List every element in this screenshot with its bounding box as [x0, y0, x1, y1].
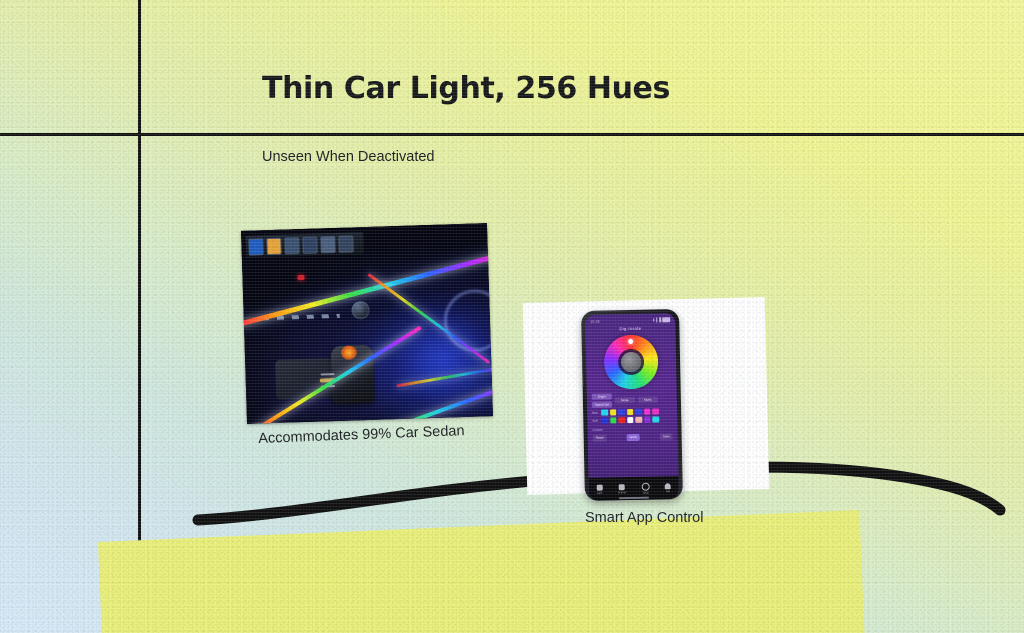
bottom-navigation-bar: Light Scenes Timer Me: [589, 476, 679, 501]
nav-item-label: Scenes: [618, 491, 627, 494]
person-icon: [665, 483, 671, 489]
color-swatch[interactable]: [618, 409, 625, 416]
grid-icon: [619, 484, 625, 490]
bulb-icon: [596, 485, 602, 491]
color-wheel-selector-handle[interactable]: [628, 339, 633, 344]
home-indicator: [619, 497, 649, 499]
color-swatch[interactable]: [635, 408, 642, 415]
nav-item-label: Light: [597, 492, 603, 495]
swatch-row-soft: Soft: [592, 416, 672, 424]
apply-button[interactable]: Apply: [626, 433, 640, 440]
signal-icon: [659, 317, 661, 322]
horizontal-rule-line: [0, 133, 1024, 136]
nav-item-label: Me: [666, 490, 670, 493]
color-wheel[interactable]: [604, 334, 659, 389]
control-button-row: Reset Apply Save: [588, 430, 678, 442]
nav-item-label: Timer: [643, 492, 650, 495]
car-interior-photo: [241, 223, 493, 424]
mode-button-speed[interactable]: Speed Set: [592, 401, 612, 407]
color-swatch[interactable]: [627, 408, 634, 415]
color-swatch[interactable]: [644, 408, 651, 415]
color-swatch[interactable]: [601, 409, 608, 416]
swatch-row-hue: Hue: [592, 408, 672, 416]
app-screen: 10:28 Dig-Inside Bright Speed Set: [585, 313, 679, 501]
vertical-rule-line-lower: [138, 136, 141, 585]
nav-item-scenes[interactable]: Scenes: [618, 484, 627, 494]
mode-button-group-left: Bright Speed Set: [592, 393, 612, 407]
nav-item-timer[interactable]: Timer: [642, 483, 650, 495]
color-swatch[interactable]: [627, 416, 634, 423]
phone-photo-caption: Smart App Control: [585, 510, 703, 526]
nav-item-me[interactable]: Me: [665, 483, 671, 493]
clock-icon: [642, 483, 650, 491]
status-bar-icons: [653, 317, 670, 323]
poster-canvas: Thin Car Light, 256 Hues Unseen When Dea…: [0, 0, 1024, 633]
color-swatch[interactable]: [618, 417, 625, 424]
color-swatch[interactable]: [610, 409, 617, 416]
phone-volume-button[interactable]: [581, 355, 583, 369]
save-button[interactable]: Save: [660, 433, 673, 440]
reset-button[interactable]: Reset: [593, 434, 607, 441]
color-swatch[interactable]: [652, 416, 659, 423]
car-photo-caption: Accommodates 99% Car Sedan: [258, 423, 465, 447]
color-swatch[interactable]: [652, 408, 659, 415]
dashboard-app-icon: [284, 237, 300, 254]
car-warning-indicator: [297, 275, 304, 280]
dashboard-app-icon: [248, 238, 264, 255]
mode-button-bright[interactable]: Bright: [592, 393, 612, 399]
color-swatch[interactable]: [610, 417, 617, 424]
color-swatch[interactable]: [601, 417, 608, 424]
dashboard-app-icon: [320, 235, 336, 252]
signal-icon: [653, 318, 655, 321]
car-dashboard-screen: [245, 232, 364, 258]
mode-button-music[interactable]: Music: [638, 396, 658, 402]
color-swatch-block: Hue Soft: [587, 406, 677, 424]
battery-icon: [662, 317, 670, 323]
page-title: Thin Car Light, 256 Hues: [262, 71, 670, 106]
yellow-slab-decoration: [98, 510, 865, 633]
status-bar: 10:28: [585, 313, 675, 326]
color-wheel-container[interactable]: [586, 334, 677, 390]
color-swatch[interactable]: [635, 416, 642, 423]
status-bar-time: 10:28: [590, 319, 600, 323]
swatch-row-label: Soft: [592, 418, 599, 422]
swatch-row-label: Hue: [592, 410, 599, 414]
dashboard-app-icon: [302, 236, 318, 253]
mode-button-row: Bright Speed Set Mode Music: [587, 388, 677, 407]
dashboard-app-icon: [338, 235, 354, 252]
color-swatch[interactable]: [644, 416, 651, 423]
smartphone-mockup: 10:28 Dig-Inside Bright Speed Set: [581, 309, 683, 501]
phone-power-button[interactable]: [581, 373, 583, 387]
signal-icon: [656, 318, 658, 322]
nav-item-light[interactable]: Light: [596, 485, 602, 495]
dashboard-app-icon: [266, 237, 282, 254]
vertical-rule-line-upper: [138, 0, 141, 133]
mode-button-mode[interactable]: Mode: [615, 397, 635, 403]
subtitle-text: Unseen When Deactivated: [262, 149, 435, 165]
app-title: Dig-Inside: [585, 325, 675, 332]
